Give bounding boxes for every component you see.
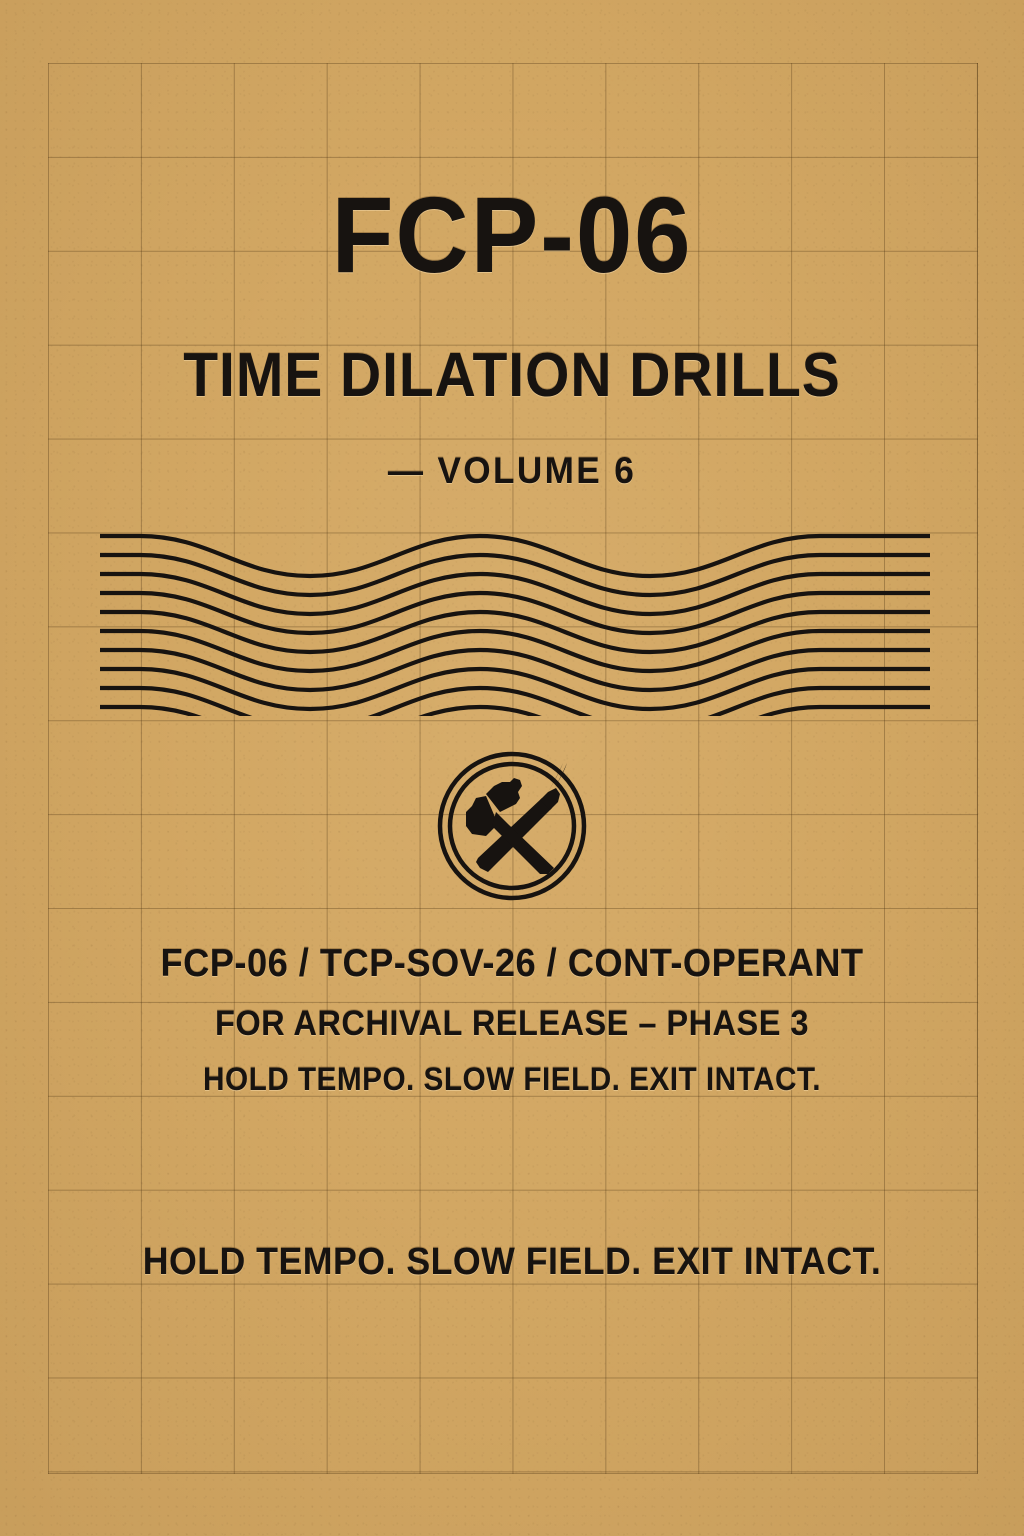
crossed-hammer-chisel-icon xyxy=(436,750,588,902)
poster-volume-label: — VOLUME 6 xyxy=(26,452,999,489)
metadata-line-release: FOR ARCHIVAL RELEASE – PHASE 3 xyxy=(36,1006,988,1041)
poster-subtitle: TIME DILATION DRILLS xyxy=(41,345,983,407)
metadata-block: FCP-06 / TCP-SOV-26 / CONT-OPERANT FOR A… xyxy=(0,944,1024,1095)
metadata-line-codes: FCP-06 / TCP-SOV-26 / CONT-OPERANT xyxy=(36,944,988,983)
metadata-line-directive: HOLD TEMPO. SLOW FIELD. EXIT INTACT. xyxy=(36,1063,988,1095)
poster-content: FCP-06 TIME DILATION DRILLS — VOLUME 6 xyxy=(0,0,1024,1536)
poster-code-title: FCP-06 xyxy=(31,181,994,289)
poster-tagline: HOLD TEMPO. SLOW FIELD. EXIT INTACT. xyxy=(31,1243,994,1281)
wave-motif xyxy=(100,528,930,716)
poster-canvas: FCP-06 TIME DILATION DRILLS — VOLUME 6 xyxy=(0,0,1024,1536)
